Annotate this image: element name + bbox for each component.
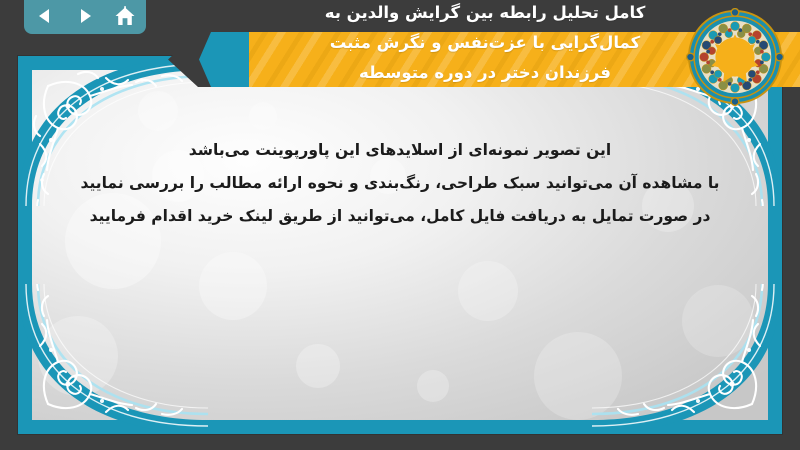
triangle-left-icon bbox=[35, 6, 55, 26]
title-line-1: کامل تحلیل رابطه بین گرایش والدین به bbox=[250, 0, 720, 28]
next-slide-button[interactable] bbox=[72, 4, 98, 28]
arabesque-corner-ornament-bottom-left bbox=[18, 284, 208, 434]
triangle-right-icon bbox=[75, 6, 95, 26]
home-button[interactable] bbox=[112, 4, 138, 28]
arabesque-corner-ornament-bottom-right bbox=[592, 284, 782, 434]
home-icon bbox=[114, 6, 136, 27]
body-line-2: با مشاهده آن می‌توانید سبک طراحی، رنگ‌بن… bbox=[78, 167, 722, 200]
slide-frame: این تصویر نمونه‌ای از اسلایدهای این پاور… bbox=[18, 56, 782, 434]
body-line-1: این تصویر نمونه‌ای از اسلایدهای این پاور… bbox=[78, 134, 722, 167]
body-line-3: در صورت تمایل به دریافت فایل کامل، می‌تو… bbox=[78, 200, 722, 233]
persian-medallion-ornament bbox=[686, 8, 784, 106]
previous-slide-button[interactable] bbox=[32, 4, 58, 28]
slide-inner: این تصویر نمونه‌ای از اسلایدهای این پاور… bbox=[18, 56, 782, 434]
banner-teal-tail bbox=[199, 32, 249, 87]
slide-body-text: این تصویر نمونه‌ای از اسلایدهای این پاور… bbox=[78, 134, 722, 233]
slide-navigation-bar bbox=[24, 0, 146, 34]
